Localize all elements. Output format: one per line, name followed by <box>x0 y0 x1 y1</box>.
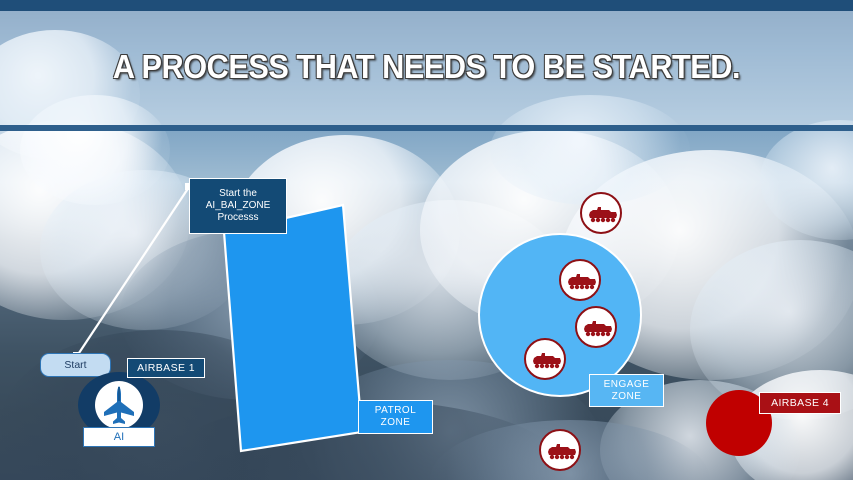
enemy-unit[interactable] <box>559 259 601 301</box>
enemy-unit[interactable] <box>580 192 622 234</box>
engage-zone-label-line2: ZONE <box>604 391 650 403</box>
ai-label: AI <box>83 427 155 447</box>
patrol-zone-label-line2: ZONE <box>375 417 417 429</box>
enemy-unit[interactable] <box>539 429 581 471</box>
banner-divider <box>0 125 853 131</box>
fighter-jet-icon <box>100 385 138 425</box>
patrol-zone-label: PATROL ZONE <box>358 400 433 434</box>
process-callout-line1: Start the <box>206 188 270 200</box>
tank-icon <box>546 441 578 461</box>
top-accent-bar <box>0 0 853 11</box>
enemy-unit[interactable] <box>524 338 566 380</box>
engage-zone-label-line1: ENGAGE <box>604 379 650 391</box>
tank-icon <box>531 350 563 370</box>
page-title: A PROCESS THAT NEEDS TO BE STARTED. <box>30 48 823 86</box>
presentation-slide: A PROCESS THAT NEEDS TO BE STARTED. Star… <box>0 0 853 480</box>
engage-zone-label: ENGAGE ZONE <box>589 374 664 407</box>
tank-icon <box>566 271 598 291</box>
airbase1-label: AIRBASE 1 <box>127 358 205 378</box>
process-callout-line3: Processs <box>206 212 270 224</box>
process-callout-box[interactable]: Start the AI_BAI_ZONE Processs <box>189 178 287 234</box>
tank-icon <box>587 204 619 224</box>
enemy-unit[interactable] <box>575 306 617 348</box>
airbase4-label: AIRBASE 4 <box>759 392 841 414</box>
patrol-zone-label-line1: PATROL <box>375 405 417 417</box>
tank-icon <box>582 318 614 338</box>
process-callout-line2: AI_BAI_ZONE <box>206 200 270 212</box>
